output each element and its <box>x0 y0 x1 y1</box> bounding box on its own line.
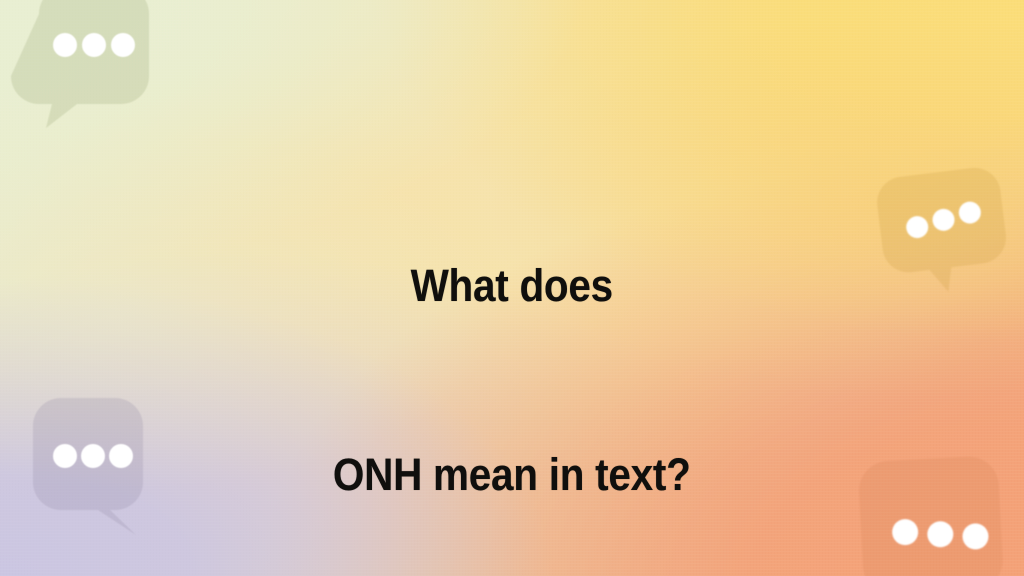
headline-line: ONH mean in text? <box>333 443 691 506</box>
slide-content: What does ONH mean in text? ONH is an ac… <box>0 0 1024 576</box>
page-title: What does ONH mean in text? <box>333 0 691 576</box>
slide-canvas: What does ONH mean in text? ONH is an ac… <box>0 0 1024 576</box>
headline-line: What does <box>333 254 691 317</box>
